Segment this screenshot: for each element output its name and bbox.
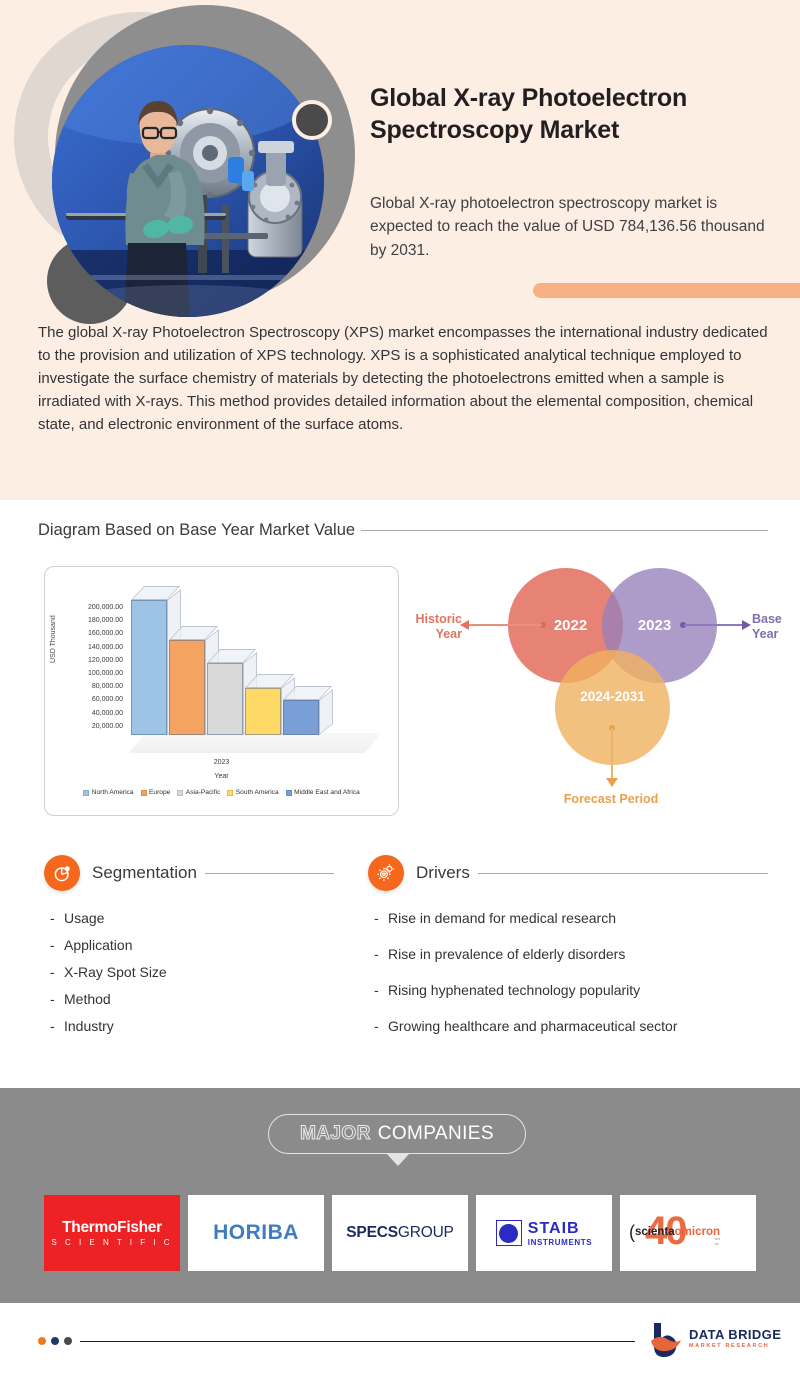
venn-arrow-base — [742, 620, 751, 630]
chart-bar — [131, 600, 167, 735]
drivers-divider — [478, 873, 768, 874]
chart-x-category: 2023 — [45, 759, 398, 766]
drivers-item: -Rise in demand for medical research — [374, 910, 616, 926]
chart-y-axis-title: USD Thousand — [50, 615, 57, 663]
chart-y-tick: 60,000.00 — [61, 693, 123, 706]
segmentation-item-label: Industry — [64, 1018, 114, 1034]
venn-connector-forecast — [611, 728, 613, 780]
list-dash: - — [374, 982, 388, 998]
section-divider — [361, 530, 768, 531]
venn-caption-forecast: Forecast Period — [535, 792, 687, 807]
specs-name: SPECS — [346, 1224, 398, 1241]
hero-photo — [52, 45, 324, 317]
thermo-fisher-name: ThermoFisher — [51, 1219, 172, 1237]
list-dash: - — [50, 991, 64, 1007]
chart-bar — [169, 640, 205, 735]
chart-y-tick: 180,000.00 — [61, 614, 123, 627]
decorative-dot — [292, 100, 332, 140]
footer-dot — [38, 1337, 46, 1345]
chart-y-tick: 160,000.00 — [61, 627, 123, 640]
chart-y-tick: 200,000.00 — [61, 601, 123, 614]
data-bridge-name: DATA BRIDGE — [689, 1328, 781, 1342]
section-heading: Diagram Based on Base Year Market Value — [38, 521, 768, 540]
venn-caption-historic-l1: Historic — [410, 612, 462, 627]
data-bridge-mark-icon — [648, 1321, 682, 1357]
segmentation-header: Segmentation — [44, 855, 334, 891]
specs-group-word: GROUP — [398, 1224, 454, 1241]
footer-dots — [38, 1337, 72, 1345]
list-dash: - — [374, 1018, 388, 1034]
chart-y-tick: 80,000.00 — [61, 680, 123, 693]
section-heading-label: Diagram Based on Base Year Market Value — [38, 521, 355, 540]
venn-connector-historic — [468, 624, 542, 626]
venn-connector-base — [684, 624, 742, 626]
list-dash: - — [50, 910, 64, 926]
chart-legend-swatch — [141, 790, 147, 796]
chart-legend: North AmericaEuropeAsia-PacificSouth Ame… — [45, 789, 398, 796]
chart-legend-label: North America — [92, 789, 134, 796]
segmentation-item-label: Usage — [64, 910, 104, 926]
chart-y-tick: 20,000.00 — [61, 720, 123, 733]
logo-thermo-fisher: ThermoFisher S C I E N T I F I C — [44, 1195, 180, 1271]
chart-legend-swatch — [227, 790, 233, 796]
venn-caption-base-l2: Year — [752, 627, 800, 642]
market-value-chart: USD Thousand 200,000.00180,000.00160,000… — [44, 566, 399, 816]
drivers-item-label: Rise in demand for medical research — [388, 910, 616, 926]
venn-arrow-forecast — [606, 778, 618, 787]
chart-legend-label: Europe — [149, 789, 170, 796]
drivers-header: Drivers — [368, 855, 768, 891]
major-companies-section: MAJOR COMPANIES ThermoFisher S C I E N T… — [0, 1088, 800, 1303]
footer: DATA BRIDGE MARKET RESEARCH — [0, 1303, 800, 1392]
chart-bar — [207, 663, 243, 735]
venn-label-base: 2023 — [638, 617, 671, 634]
company-logo-row: ThermoFisher S C I E N T I F I C HORIBA … — [44, 1195, 756, 1271]
footer-dot — [51, 1337, 59, 1345]
segmentation-item: -X-Ray Spot Size — [50, 964, 167, 980]
header-banner: Global X-ray Photoelectron Spectroscopy … — [0, 0, 800, 500]
venn-label-historic: 2022 — [554, 617, 587, 634]
logo-staib-instruments: STAIB INSTRUMENTS — [476, 1195, 612, 1271]
list-dash: - — [50, 937, 64, 953]
segmentation-title: Segmentation — [92, 863, 197, 883]
footer-dot — [64, 1337, 72, 1345]
drivers-item-label: Rise in prevalence of elderly disorders — [388, 946, 625, 962]
chart-legend-item: Asia-Pacific — [177, 789, 220, 796]
segmentation-divider — [205, 873, 334, 874]
venn-diagram: 2022 2023 2024-2031 Historic Year Base Y… — [410, 560, 800, 825]
drivers-item: -Growing healthcare and pharmaceutical s… — [374, 1018, 678, 1034]
chart-y-axis-ticks: 200,000.00180,000.00160,000.00140,000.00… — [61, 601, 123, 733]
chart-legend-label: South America — [236, 789, 279, 796]
venn-caption-base-l1: Base — [752, 612, 800, 627]
header-subtitle: Global X-ray photoelectron spectroscopy … — [370, 192, 780, 262]
list-dash: - — [50, 964, 64, 980]
drivers-item-label: Growing healthcare and pharmaceutical se… — [388, 1018, 678, 1034]
chart-legend-item: Middle East and Africa — [286, 789, 360, 796]
chart-legend-item: North America — [83, 789, 133, 796]
chart-legend-label: Asia-Pacific — [186, 789, 220, 796]
chart-y-tick: 40,000.00 — [61, 707, 123, 720]
drivers-item-label: Rising hyphenated technology popularity — [388, 982, 640, 998]
drivers-item: -Rise in prevalence of elderly disorders — [374, 946, 625, 962]
segmentation-item: -Application — [50, 937, 133, 953]
list-dash: - — [374, 910, 388, 926]
data-bridge-logo: DATA BRIDGE MARKET RESEARCH — [648, 1321, 781, 1357]
segmentation-item-label: Method — [64, 991, 111, 1007]
venn-caption-base: Base Year — [752, 612, 800, 642]
logo-specs-group: SPECSGROUP — [332, 1195, 468, 1271]
chart-legend-item: Europe — [141, 789, 171, 796]
chart-x-axis-title: Year — [45, 773, 398, 780]
scienta-name: scienta — [635, 1226, 675, 1238]
badge-word-major: MAJOR — [300, 1123, 371, 1145]
data-bridge-tagline: MARKET RESEARCH — [689, 1344, 781, 1350]
chart-legend-swatch — [177, 790, 183, 796]
omicron-name: omicron — [675, 1226, 720, 1238]
accent-bar — [533, 283, 800, 298]
list-dash: - — [374, 946, 388, 962]
pie-chart-icon — [44, 855, 80, 891]
chart-y-tick: 140,000.00 — [61, 641, 123, 654]
horiba-name: HORIBA — [213, 1221, 299, 1245]
segmentation-item: -Usage — [50, 910, 104, 926]
gears-icon — [368, 855, 404, 891]
drivers-title: Drivers — [416, 863, 470, 883]
segmentation-item-label: X-Ray Spot Size — [64, 964, 167, 980]
page-title: Global X-ray Photoelectron Spectroscopy … — [370, 82, 770, 146]
drivers-item: -Rising hyphenated technology popularity — [374, 982, 640, 998]
venn-label-forecast: 2024-2031 — [580, 689, 645, 704]
segmentation-item: -Industry — [50, 1018, 114, 1034]
badge-caret-icon — [386, 1153, 410, 1166]
staib-subtitle: INSTRUMENTS — [528, 1238, 592, 1247]
chart-legend-swatch — [83, 790, 89, 796]
list-dash: - — [50, 1018, 64, 1034]
logo-horiba: HORIBA — [188, 1195, 324, 1271]
venn-caption-historic-l2: Year — [410, 627, 462, 642]
chart-y-tick: 100,000.00 — [61, 667, 123, 680]
segmentation-item-label: Application — [64, 937, 133, 953]
staib-mark-icon — [496, 1220, 522, 1246]
chart-legend-swatch — [286, 790, 292, 796]
scienta-sub-mark: ▪▪▪▪▪▪▪ — [715, 1237, 720, 1248]
chart-bar — [245, 688, 281, 735]
venn-caption-historic: Historic Year — [410, 612, 462, 642]
major-companies-badge: MAJOR COMPANIES — [268, 1114, 526, 1154]
badge-word-companies: COMPANIES — [378, 1123, 494, 1145]
chart-y-tick: 120,000.00 — [61, 654, 123, 667]
intro-paragraph: The global X-ray Photoelectron Spectrosc… — [38, 322, 778, 437]
segmentation-item: -Method — [50, 991, 111, 1007]
logo-scienta-omicron: 40 ( scientaomicron ▪▪▪▪▪▪▪ — [620, 1195, 756, 1271]
chart-plot-area — [131, 593, 381, 753]
venn-caption-forecast-text: Forecast Period — [535, 792, 687, 807]
chart-legend-item: South America — [227, 789, 278, 796]
footer-divider — [80, 1341, 635, 1342]
chart-bars — [131, 593, 381, 735]
thermo-fisher-tagline: S C I E N T I F I C — [51, 1238, 172, 1247]
chart-legend-label: Middle East and Africa — [294, 789, 360, 796]
staib-name: STAIB — [528, 1220, 592, 1238]
chart-floor — [129, 733, 381, 753]
diagram-section: Diagram Based on Base Year Market Value … — [0, 500, 800, 1085]
chart-bar — [283, 700, 319, 735]
